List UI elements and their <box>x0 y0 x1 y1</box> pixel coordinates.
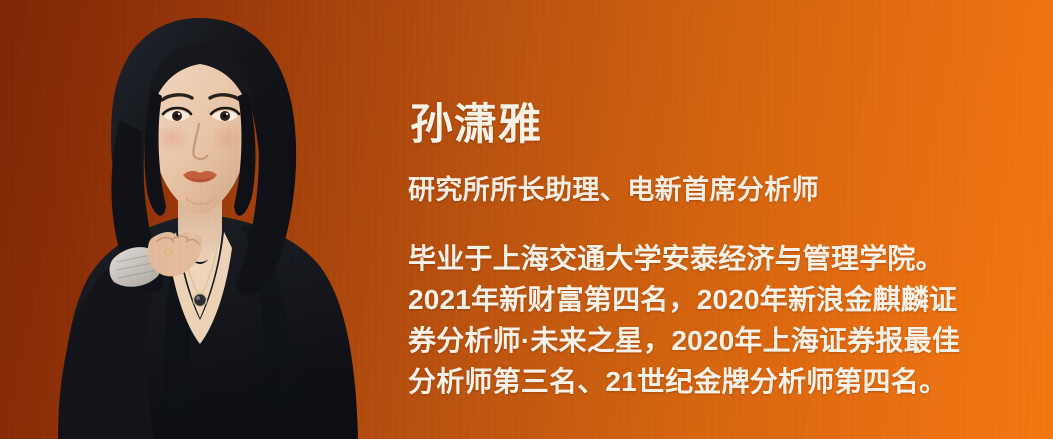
analyst-bio-line: 分析师第三名、21世纪金牌分析师第四名。 <box>408 361 1033 402</box>
analyst-bio-line: 毕业于上海交通大学安泰经济与管理学院。 <box>408 238 1033 279</box>
analyst-bio-line: 券分析师·未来之星，2020年上海证券报最佳 <box>408 320 1033 361</box>
analyst-profile-card: 孙潇雅 研究所所长助理、电新首席分析师 毕业于上海交通大学安泰经济与管理学院。 … <box>0 0 1053 439</box>
analyst-title: 研究所所长助理、电新首席分析师 <box>408 177 819 204</box>
analyst-bio-line: 2021年新财富第四名，2020年新浪金麒麟证 <box>408 279 1033 320</box>
analyst-portrait <box>28 0 373 439</box>
analyst-bio: 毕业于上海交通大学安泰经济与管理学院。 2021年新财富第四名，2020年新浪金… <box>408 238 1033 402</box>
analyst-text-block: 孙潇雅 研究所所长助理、电新首席分析师 毕业于上海交通大学安泰经济与管理学院。 … <box>408 0 1033 439</box>
analyst-name: 孙潇雅 <box>410 104 542 147</box>
